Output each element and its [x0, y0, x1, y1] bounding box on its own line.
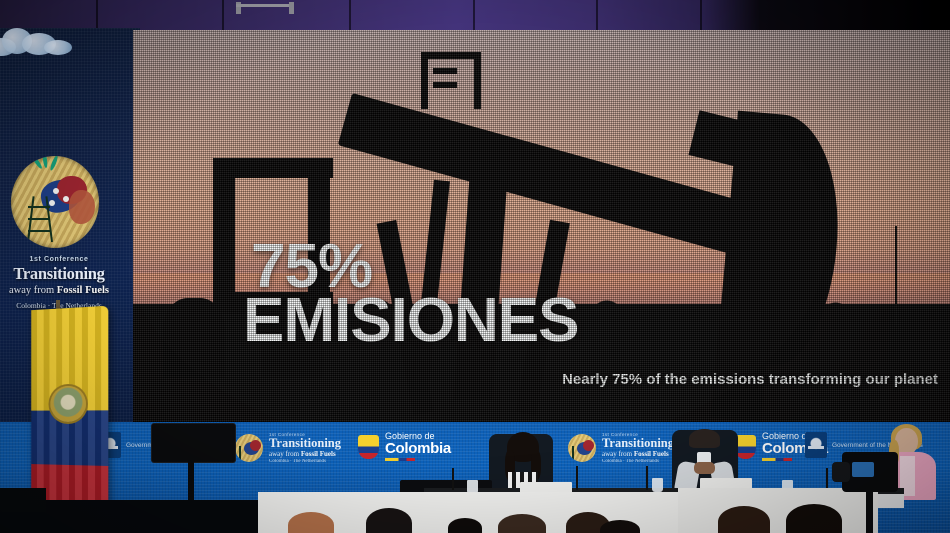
pumpjack-mast [485, 134, 499, 196]
panelist-man-hands [694, 462, 715, 474]
screenshot-stage: 1st Conference Transitioning away from F… [0, 0, 950, 533]
backdrop-tr-strong-left: Fossil Fuels [301, 450, 336, 458]
backdrop-tr-sub-left: away from [269, 450, 301, 458]
conference-emblem-icon [235, 434, 263, 462]
netherlands-crest-icon [805, 432, 827, 458]
cloud-graphic-icon [0, 26, 76, 56]
microphone [576, 466, 578, 490]
backdrop-tr-conf-left: 1st Conference [269, 432, 341, 437]
monitor-stand [188, 460, 194, 505]
pumpjack-frame-leg [213, 160, 235, 310]
conference-emblem-icon [11, 156, 99, 248]
screen-caption: Nearly 75% of the emissions transforming… [562, 371, 938, 388]
microphone [826, 468, 828, 490]
audience-head [600, 520, 640, 533]
pumpjack-frame-top [213, 158, 333, 178]
audience-head [718, 506, 770, 533]
microphone [646, 466, 648, 490]
pumpjack-cage-bar [433, 68, 457, 74]
audience-head [498, 514, 546, 533]
backdrop-tr-conf-right: 1st Conference [602, 432, 674, 437]
pumpjack-cage-bar [433, 82, 457, 88]
camera-lens-icon [832, 462, 850, 482]
backdrop-co-line2-left: Colombia [385, 441, 451, 457]
foreground-panel [678, 488, 878, 533]
screen-headline-word: EMISIONES [243, 292, 579, 351]
ceiling-truss-icon [236, 2, 294, 14]
pumpjack-cage [421, 52, 481, 109]
microphone [452, 468, 454, 490]
utility-pole [895, 226, 897, 326]
water-glass [652, 478, 663, 492]
left-logo-subtitle-strong: Fossil Fuels [57, 285, 109, 296]
left-logo-subtitle: away from Fossil Fuels [0, 285, 118, 296]
panelist-man-hair [689, 429, 720, 448]
backdrop-logo-transitioning-left: 1st Conference Transitioning away from F… [235, 432, 341, 464]
led-display-screen: 75% EMISIONES Nearly 75% of the emission… [133, 30, 950, 422]
audience-head [786, 504, 842, 533]
audience-head [448, 518, 482, 533]
pumpjack-wellhead [163, 298, 225, 378]
backdrop-tr-title-left: Transitioning [269, 437, 341, 450]
backdrop-tr-strong-right: Fossil Fuels [634, 450, 669, 458]
backdrop-tr-sub-right: away from [602, 450, 634, 458]
colombia-coat-of-arms-icon [50, 386, 86, 422]
backdrop-tr-title-right: Transitioning [602, 437, 674, 450]
backdrop-logo-transitioning-right: 1st Conference Transitioning away from F… [568, 432, 674, 464]
backdrop-tr-countries-right: Colombia · The Netherlands [602, 459, 674, 464]
colombia-shield-icon [735, 435, 756, 459]
backdrop-tr-countries-left: Colombia · The Netherlands [269, 459, 341, 464]
camera-viewfinder-screen [852, 462, 874, 477]
left-logo-conference-label: 1st Conference [0, 256, 118, 263]
conference-emblem-icon [568, 434, 596, 462]
colombia-flag-bar-icon [385, 458, 415, 461]
backdrop-logo-colombia-left: Gobierno de Colombia [358, 432, 451, 461]
ceiling-wall [0, 0, 950, 34]
colombia-flag-bar-icon [762, 458, 792, 461]
left-logo-subtitle-prefix: away from [9, 285, 57, 296]
audience-head [366, 508, 412, 533]
colombia-shield-icon [358, 435, 379, 459]
camera-tripod [866, 490, 873, 533]
foreground-equipment [0, 488, 46, 512]
audience-head [288, 512, 334, 533]
left-logo-title: Transitioning [0, 264, 118, 284]
confidence-monitor [152, 424, 235, 462]
